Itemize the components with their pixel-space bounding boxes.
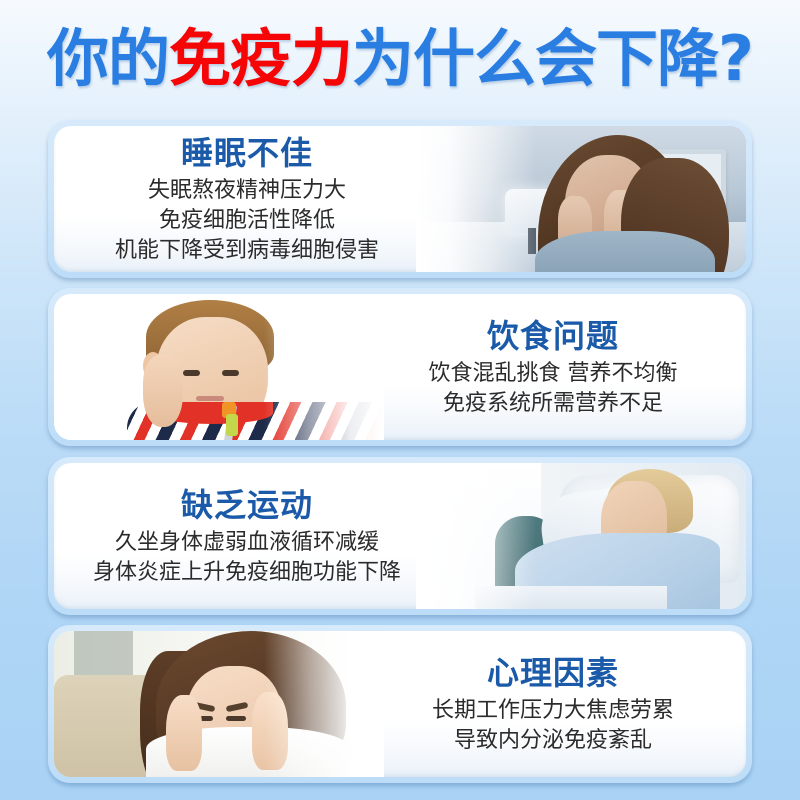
hand-shape	[143, 355, 183, 427]
card-heading-mental: 心理因素	[487, 653, 619, 693]
reason-card-exercise[interactable]: 缺乏运动 久坐身体虚弱血液循环减缓 身体炎症上升免疫细胞功能下降	[48, 457, 752, 615]
card-line: 免疫细胞活性降低	[159, 206, 335, 236]
eye-shape	[183, 370, 200, 376]
eye-shape	[222, 370, 239, 376]
boy-refusing-food-photo	[54, 294, 384, 440]
reason-card-mental[interactable]: 心理因素 长期工作压力大焦虑劳累 导致内分泌免疫紊乱	[48, 625, 752, 783]
card-text-exercise: 缺乏运动 久坐身体虚弱血液循环减缓 身体炎症上升免疫细胞功能下降	[62, 463, 432, 609]
photo-fade-edge	[264, 631, 384, 777]
card-line: 身体炎症上升免疫细胞功能下降	[93, 558, 401, 588]
reason-card-sleep[interactable]: 睡眠不佳 失眠熬夜精神压力大 免疫细胞活性降低 机能下降受到病毒细胞侵害	[48, 120, 752, 278]
card-heading-sleep: 睡眠不佳	[181, 133, 313, 173]
vegetable-shape	[226, 414, 238, 436]
shirt-shape	[535, 231, 715, 272]
woman-insomnia-bedroom-photo	[416, 126, 746, 272]
card-inner-exercise: 缺乏运动 久坐身体虚弱血液循环减缓 身体炎症上升免疫细胞功能下降	[54, 463, 746, 609]
card-line: 饮食混乱挑食 营养不均衡	[429, 359, 678, 389]
photo-fade-edge	[416, 126, 536, 272]
title-part-2: 为什么会下降?	[352, 23, 753, 95]
card-heading-exercise: 缺乏运动	[181, 485, 313, 525]
elderly-woman-in-bed-photo	[416, 463, 746, 609]
card-inner-sleep: 睡眠不佳 失眠熬夜精神压力大 免疫细胞活性降低 机能下降受到病毒细胞侵害	[54, 126, 746, 272]
title-part-highlight: 免疫力	[169, 23, 352, 95]
page-title: 你的免疫力为什么会下降?	[0, 22, 800, 96]
card-heading-diet: 饮食问题	[487, 316, 619, 356]
card-line: 失眠熬夜精神压力大	[148, 176, 346, 206]
card-line: 导致内分泌免疫紊乱	[454, 726, 652, 756]
eye-shape	[226, 716, 246, 721]
card-line: 久坐身体虚弱血液循环减缓	[115, 528, 379, 558]
card-line: 机能下降受到病毒细胞侵害	[115, 236, 379, 266]
card-line: 长期工作压力大焦虑劳累	[432, 696, 674, 726]
title-part-1: 你的	[47, 23, 169, 95]
immunity-decline-poster: 你的免疫力为什么会下降? 睡眠不佳 失眠熬夜精神压力大 免疫	[0, 0, 800, 800]
mouth-shape	[196, 396, 224, 401]
photo-fade-edge	[264, 294, 384, 440]
reason-card-diet[interactable]: 饮食问题 饮食混乱挑食 营养不均衡 免疫系统所需营养不足	[48, 288, 752, 446]
card-inner-mental: 心理因素 长期工作压力大焦虑劳累 导致内分泌免疫紊乱	[54, 631, 746, 777]
card-text-mental: 心理因素 长期工作压力大焦虑劳累 导致内分泌免疫紊乱	[368, 631, 738, 777]
card-line: 免疫系统所需营养不足	[443, 389, 663, 419]
stressed-woman-headache-photo	[54, 631, 384, 777]
left-hand-shape	[166, 695, 202, 771]
photo-fade-edge	[416, 463, 536, 609]
card-text-sleep: 睡眠不佳 失眠熬夜精神压力大 免疫细胞活性降低 机能下降受到病毒细胞侵害	[62, 126, 432, 272]
card-inner-diet: 饮食问题 饮食混乱挑食 营养不均衡 免疫系统所需营养不足	[54, 294, 746, 440]
window-pane	[74, 631, 133, 675]
card-text-diet: 饮食问题 饮食混乱挑食 营养不均衡 免疫系统所需营养不足	[368, 294, 738, 440]
